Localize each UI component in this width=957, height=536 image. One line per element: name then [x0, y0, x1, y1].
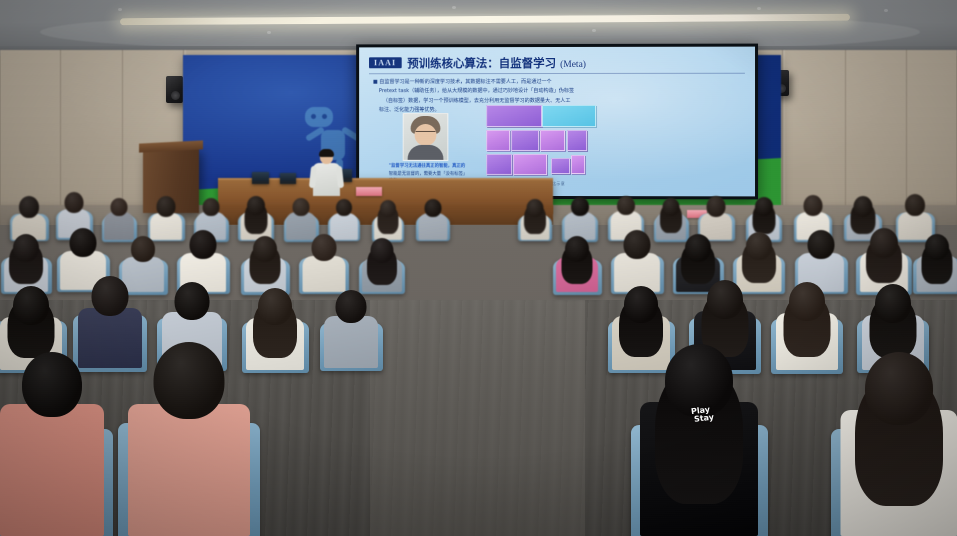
diagram-block: [511, 130, 539, 151]
audience-head: [175, 282, 210, 320]
audience-head: [70, 228, 97, 257]
lecture-hall-photo: IAAI 预训练核心算法：自监督学习 (Meta) ■ 自监督学习是一种新的深度…: [0, 0, 957, 536]
audience-member: [640, 344, 758, 536]
audience-member: [246, 288, 304, 370]
diagram-block: [542, 105, 596, 127]
audience-member: [860, 228, 908, 292]
audience-torso: [0, 404, 104, 536]
ceiling-fixture-dot: [757, 7, 761, 10]
audience-head: [190, 230, 217, 259]
diagram-block: [513, 154, 547, 175]
lectern-top: [139, 140, 203, 152]
diagram-block: [540, 130, 565, 151]
audience-head: [336, 290, 367, 323]
audience-head: [875, 284, 911, 323]
audience-member: [4, 234, 48, 292]
laptop-left: [252, 172, 269, 184]
audience-head: [707, 280, 743, 319]
slide-quote-line: "监督学习无法通往真正的智能，真正的: [389, 163, 468, 171]
audience-head: [617, 196, 635, 215]
slide-body-line: Pretext task（辅助任务），给从大规模的数据中，通过巧妙地设计「自动构…: [373, 87, 743, 97]
audience-head: [380, 200, 396, 217]
diagram-block: [551, 158, 570, 174]
audience-member: [244, 236, 286, 292]
presentation-slide: IAAI 预训练核心算法：自监督学习 (Meta) ■ 自监督学习是一种新的深度…: [359, 47, 755, 197]
slide-title-main: 预训练核心算法：自监督学习: [407, 55, 556, 69]
ceiling-fixture-dot: [452, 6, 456, 9]
diagram-block: [571, 155, 585, 174]
yann-lecun-portrait: [403, 113, 449, 161]
audience-member: [840, 352, 957, 536]
audience-member: [128, 342, 250, 536]
audience-head: [371, 238, 394, 263]
ceiling-fixture-dot: [884, 9, 888, 12]
audience-member: [776, 282, 838, 370]
audience-head: [311, 234, 336, 261]
diagram-block: [486, 130, 510, 151]
wall-speaker-left-icon: [166, 76, 183, 103]
audience-member: [104, 198, 134, 240]
audience-head: [789, 282, 825, 321]
slide-title-meta: (Meta): [560, 59, 586, 69]
tshirt-graphic: PlayStay: [688, 406, 715, 424]
audience-head: [808, 230, 835, 259]
audience-head: [258, 288, 292, 325]
audience-head: [111, 198, 128, 216]
audience-head: [571, 197, 589, 216]
audience-member: [362, 238, 402, 292]
audience-head: [865, 352, 933, 425]
audience-head: [65, 192, 84, 213]
audience-head: [905, 194, 925, 216]
audience-head: [19, 196, 39, 218]
audience-member: [302, 234, 345, 292]
audience-head: [13, 286, 49, 325]
audience-head: [22, 352, 82, 417]
audience-head: [203, 198, 220, 216]
audience-head: [925, 234, 949, 260]
audience-head: [526, 199, 543, 217]
center-aisle: [370, 300, 585, 536]
audience-head: [707, 196, 726, 217]
audience-member: [0, 352, 104, 536]
presenter: [313, 150, 340, 196]
audience-head: [685, 234, 711, 262]
speaker-nameplate: [356, 187, 382, 196]
audience-torso: [302, 256, 345, 292]
iaai-logo-badge: IAAI: [369, 57, 401, 68]
ceiling-fixture-dot: [592, 29, 596, 32]
audience-head: [870, 228, 898, 258]
audience-head: [746, 232, 772, 260]
audience-member: [240, 196, 271, 240]
ceiling-fixture-dot: [267, 31, 271, 34]
audience-head: [624, 286, 658, 323]
audience-torso: [418, 213, 447, 240]
audience-torso: [324, 316, 378, 368]
ceiling-fixture-dot: [118, 8, 122, 11]
audience-head: [424, 199, 441, 217]
audience-member: [150, 196, 182, 240]
slide-body-line: ■ 自监督学习是一种新的深度学习技术，其数据标注不需要人工，而是通过一个: [373, 78, 743, 88]
audience-head: [803, 195, 822, 216]
audience-head: [253, 236, 277, 262]
audience-head: [131, 236, 155, 262]
slide-title-bar: IAAI 预训练核心算法：自监督学习 (Meta): [369, 54, 745, 72]
diagram-block: [486, 105, 542, 127]
diagram-block: [567, 130, 587, 151]
audience-head: [154, 342, 225, 419]
audience-member: [418, 199, 447, 240]
audience-member: [556, 236, 598, 292]
audience-head: [13, 234, 39, 262]
audience-head: [92, 276, 129, 316]
speaker-cone-icon: [171, 91, 180, 100]
projection-screen: IAAI 预训练核心算法：自监督学习 (Meta) ■ 自监督学习是一种新的深度…: [356, 44, 758, 200]
audience-head: [755, 197, 773, 216]
audience-head: [624, 230, 651, 259]
audience-head: [565, 236, 589, 262]
audience-head: [853, 196, 872, 217]
audience-head: [293, 198, 310, 216]
audience-head: [247, 196, 265, 215]
audience-member: [324, 290, 378, 368]
audience-head: [336, 199, 352, 216]
presenter-hair: [319, 149, 334, 157]
audience-head: [157, 196, 176, 217]
laptop-center: [280, 173, 296, 184]
slide-title: 预训练核心算法：自监督学习 (Meta): [407, 54, 586, 70]
audience-torso: [128, 404, 250, 536]
audience-member: [564, 197, 595, 240]
audience-member: [374, 200, 402, 240]
audience-head: [663, 198, 680, 216]
audience-member: [614, 230, 660, 292]
diagram-block: [486, 154, 512, 175]
audience-member: [520, 199, 549, 240]
